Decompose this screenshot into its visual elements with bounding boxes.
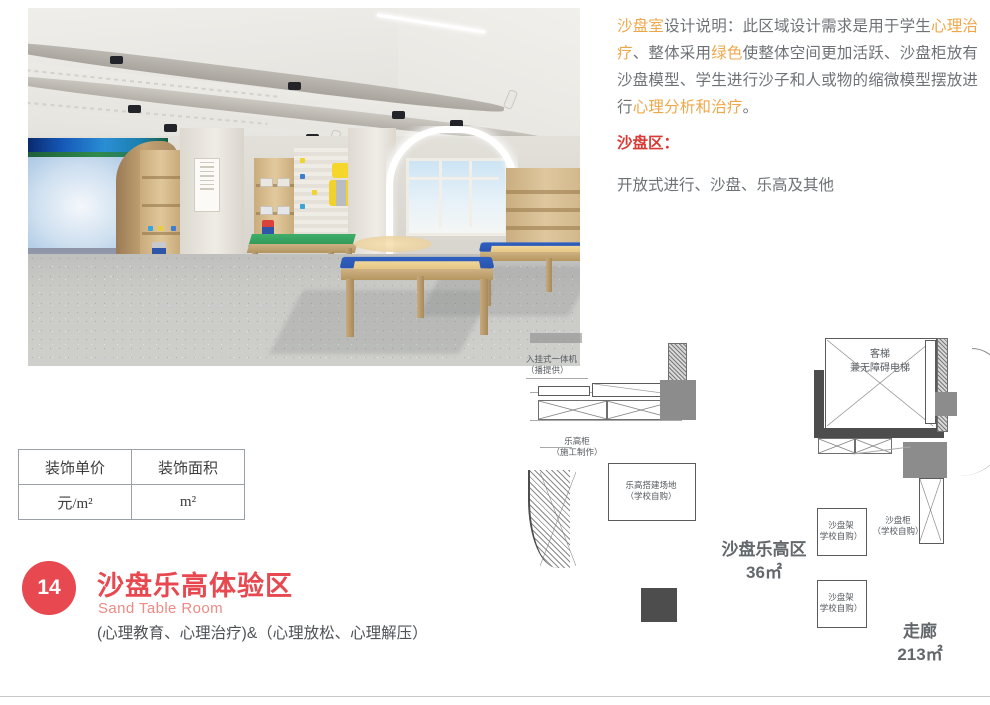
- lego-wall-block: [312, 190, 317, 195]
- plan-label-line2: 兼无障碍电梯: [835, 362, 925, 376]
- plan-label-line2: （学校自购）: [870, 526, 926, 537]
- plan-leader-line: [526, 378, 588, 379]
- table-cell-area: m²: [132, 485, 245, 520]
- plan-label-sand-rack-lower: 沙盘架 学校自购）: [817, 592, 865, 614]
- section-number-badge: 14: [22, 561, 76, 615]
- shelf-board: [506, 190, 580, 194]
- plan-label-line2: （播提供）: [526, 365, 612, 376]
- plan-area-size: 36㎡: [704, 561, 824, 584]
- shelf-board: [506, 208, 580, 212]
- plan-cabinet-run: [538, 386, 590, 396]
- plan-door-block: [935, 392, 957, 416]
- plan-door-swing-lines: [540, 472, 576, 566]
- plan-grey-swatch: [530, 333, 582, 343]
- lego-wall-block: [300, 204, 305, 209]
- table-leg: [346, 279, 354, 337]
- table-header-row: 装饰单价 装饰面积: [19, 450, 245, 485]
- ceiling-spotlight: [392, 111, 405, 119]
- plan-label-sand-cabinet: 沙盘柜 （学校自购）: [870, 515, 926, 537]
- plan-area-corridor: 走廊 213㎡: [865, 620, 975, 666]
- page-subtitle: (心理教育、心理治疗)&（心理放松、心理解压）: [97, 621, 428, 643]
- table-leg: [417, 276, 424, 318]
- design-description: 沙盘室设计说明：此区域设计需求是用于学生心理治疗、整体采用绿色使整体空间更加活跃…: [617, 13, 983, 121]
- plan-label-line2: （学校自购）: [608, 491, 694, 502]
- shelf-board: [506, 226, 580, 230]
- sand-table-apron: [480, 252, 580, 261]
- description-segment-3: 、整体采用: [633, 45, 712, 62]
- plan-wall-hatched-right: [937, 338, 948, 432]
- round-rug: [354, 236, 432, 252]
- plan-shelf-x-1: [538, 400, 608, 420]
- lego-play-table-apron: [247, 244, 358, 253]
- plan-label-line1: 入挂式一体机: [526, 354, 612, 365]
- middle-bookshelf: [254, 158, 296, 243]
- plan-label-line2: 学校自购）: [817, 603, 865, 614]
- ceiling-spotlight: [110, 56, 123, 64]
- plan-wall-thick-bottom: [814, 428, 944, 438]
- floor-plan-diagram: 入挂式一体机 （播提供） 乐高柜 （施工制作） 乐高搭建场地 （学校自购） 沙盘…: [520, 330, 990, 675]
- plan-label-line1: 乐高搭建场地: [608, 480, 694, 491]
- table-row: 元/m² m²: [19, 485, 245, 520]
- description-segment-7: 。: [743, 99, 759, 116]
- plan-area-size: 213㎡: [865, 643, 975, 666]
- plan-label-embedded-display: 入挂式一体机 （播提供）: [526, 354, 612, 376]
- plan-label-line1: 沙盘柜: [870, 515, 926, 526]
- plan-label-sand-rack-upper: 沙盘架 学校自购）: [817, 520, 865, 542]
- plan-area-name: 沙盘乐高区: [704, 538, 824, 561]
- description-segment-0: 沙盘室: [617, 18, 664, 35]
- ceiling-spotlight: [128, 105, 141, 113]
- plan-solid-block: [660, 380, 696, 420]
- plan-label-line1: 乐高柜: [540, 436, 614, 447]
- plan-stair-x: [920, 479, 941, 541]
- toy-block: [171, 226, 176, 231]
- plan-label-line1: 客梯: [835, 348, 925, 362]
- description-segment-6: 心理分析和治疗: [633, 99, 743, 116]
- description-segment-1: 设计说明：此区域设计需求是用于学生: [664, 18, 931, 35]
- table-leg: [480, 279, 488, 335]
- plan-label-elevator: 客梯 兼无障碍电梯: [835, 348, 925, 376]
- page-title-english: Sand Table Room: [98, 600, 223, 617]
- plan-leader-line: [540, 447, 572, 448]
- table-header-unit-price: 装饰单价: [19, 450, 132, 485]
- shelf-board: [142, 204, 180, 207]
- plan-label-line1: 沙盘架: [817, 520, 865, 531]
- table-cell-unit-price: 元/m²: [19, 485, 132, 520]
- section-body-sand-area: 开放式进行、沙盘、乐高及其他: [617, 174, 983, 198]
- plan-label-line2: 学校自购）: [817, 531, 865, 542]
- section-title-sand-area: 沙盘区：: [617, 132, 679, 156]
- plan-area-sand-lego: 沙盘乐高区 36㎡: [704, 538, 824, 584]
- plan-arc-door-right-2: [960, 434, 990, 476]
- ceiling-spotlight: [164, 124, 177, 132]
- plan-cabinet-diagonal: [594, 384, 670, 394]
- ceiling-spotlight: [288, 82, 301, 90]
- plan-shelf-x-3: [818, 438, 856, 454]
- plan-arc-door-right: [972, 348, 990, 391]
- wall-poster: [194, 158, 220, 212]
- shelf-board: [142, 176, 180, 179]
- shelf-board: [142, 232, 180, 235]
- footer-divider: [0, 696, 990, 697]
- plan-label-line1: 沙盘架: [817, 592, 865, 603]
- toy-block: [277, 206, 290, 215]
- toy-block: [277, 178, 290, 187]
- plan-label-lego-build-area: 乐高搭建场地 （学校自购）: [608, 480, 694, 502]
- description-segment-4: 绿色: [711, 45, 742, 62]
- lego-wall-block: [300, 158, 305, 163]
- plan-label-line2: （施工制作）: [540, 447, 614, 458]
- plan-area-name: 走廊: [865, 620, 975, 643]
- room-render-photo: [28, 8, 580, 366]
- table-leg: [546, 258, 552, 292]
- toy-block: [148, 226, 153, 231]
- toy-block: [260, 206, 273, 215]
- page-title: 沙盘乐高体验区: [97, 564, 293, 603]
- plan-solid-square: [641, 588, 677, 622]
- toy-block: [260, 178, 273, 187]
- lego-wall-block: [300, 174, 305, 179]
- decoration-spec-table: 装饰单价 装饰面积 元/m² m²: [18, 449, 245, 520]
- table-header-area: 装饰面积: [132, 450, 245, 485]
- plan-wall-h: [530, 420, 682, 421]
- toy-block: [158, 226, 163, 231]
